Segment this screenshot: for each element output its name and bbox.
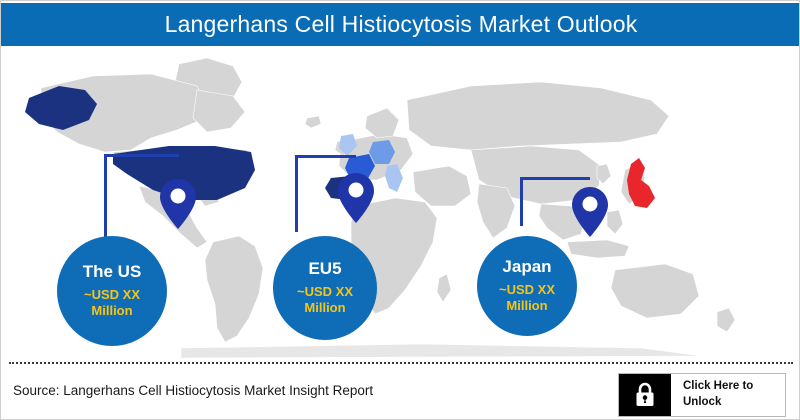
footer-divider — [9, 362, 793, 364]
region-label-us: The US — [83, 263, 142, 282]
region-bubble-eu5[interactable]: EU5 ~USD XX Million — [273, 236, 377, 340]
unlock-button-label: Click Here to Unlock — [671, 374, 785, 416]
region-label-japan: Japan — [502, 258, 551, 277]
region-value-japan: ~USD XX Million — [499, 282, 555, 315]
map-pin-japan-icon — [571, 186, 609, 238]
unlock-button[interactable]: Click Here to Unlock — [618, 373, 786, 417]
source-text: Source: Langerhans Cell Histiocytosis Ma… — [13, 383, 373, 398]
map-pin-us-icon — [159, 178, 197, 230]
infographic-root: Langerhans Cell Histiocytosis Market Out… — [0, 0, 800, 420]
region-value-eu5: ~USD XX Million — [297, 284, 353, 317]
region-label-eu5: EU5 — [308, 260, 341, 279]
lock-icon-container — [619, 374, 671, 416]
page-title: Langerhans Cell Histiocytosis Market Out… — [165, 11, 638, 38]
header-band: Langerhans Cell Histiocytosis Market Out… — [1, 3, 800, 46]
map-pin-eu5-icon — [337, 172, 375, 224]
region-bubble-japan[interactable]: Japan ~USD XX Million — [477, 236, 577, 336]
map-stage: The US ~USD XX Million EU5 ~USD XX Milli… — [1, 46, 800, 359]
region-bubble-us[interactable]: The US ~USD XX Million — [57, 236, 167, 346]
region-value-us: ~USD XX Million — [84, 287, 140, 320]
lock-icon — [634, 382, 656, 408]
